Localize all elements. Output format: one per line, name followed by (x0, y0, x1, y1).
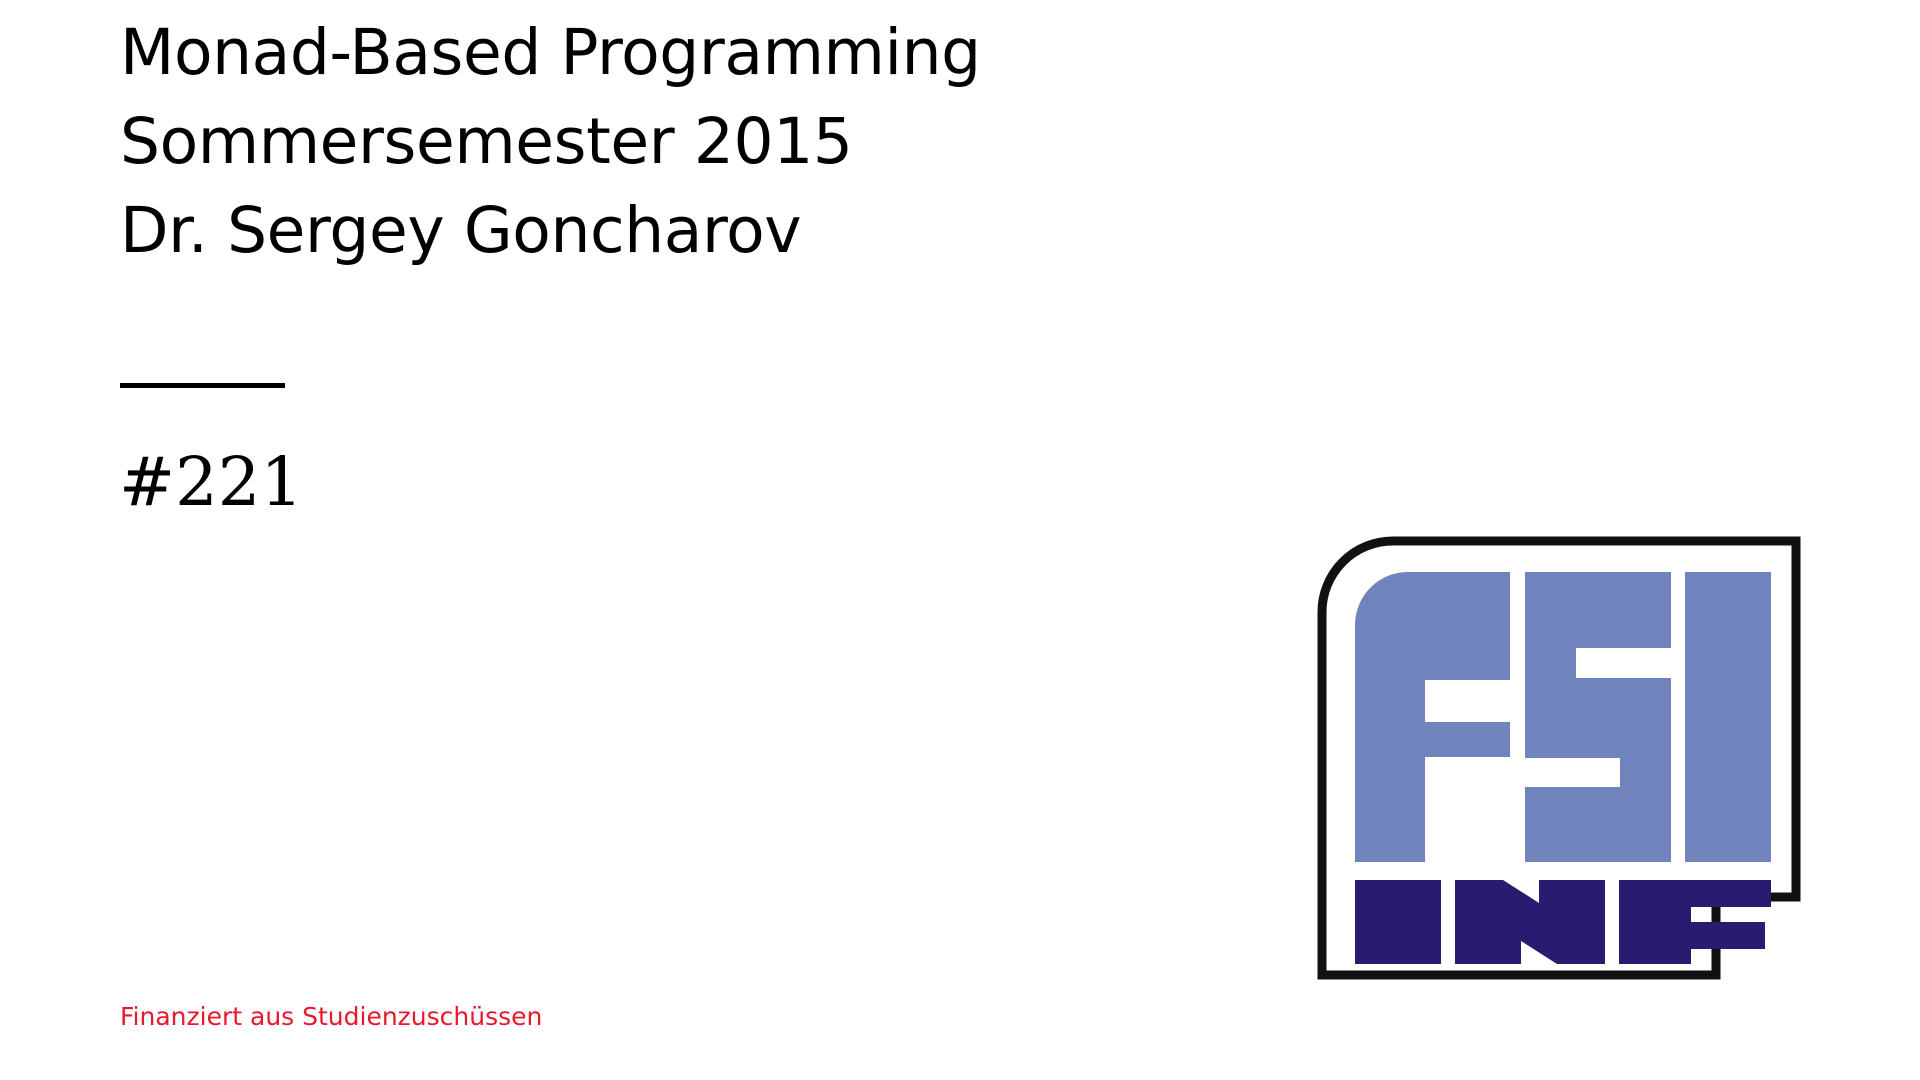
fsi-inf-logo (1313, 532, 1805, 984)
funding-note: Finanziert aus Studienzuschüssen (120, 1001, 542, 1033)
logo-letter-F-top (1355, 572, 1510, 862)
title-line-3: Dr. Sergey Goncharov (120, 186, 1220, 275)
logo-letter-N-bottom (1455, 880, 1605, 964)
slide-canvas: Monad-Based Programming Sommersemester 2… (0, 0, 1920, 1080)
title-line-1: Monad-Based Programming (120, 8, 1220, 97)
title-line-2: Sommersemester 2015 (120, 97, 1220, 186)
title-divider-rule (120, 383, 285, 388)
slide-number: #221 (119, 443, 303, 521)
logo-letter-F-bottom (1619, 880, 1771, 964)
logo-letter-S-top (1525, 572, 1671, 862)
logo-letter-I-bottom (1355, 880, 1441, 964)
logo-letter-I-top (1685, 572, 1771, 862)
title-block: Monad-Based Programming Sommersemester 2… (120, 8, 1220, 275)
